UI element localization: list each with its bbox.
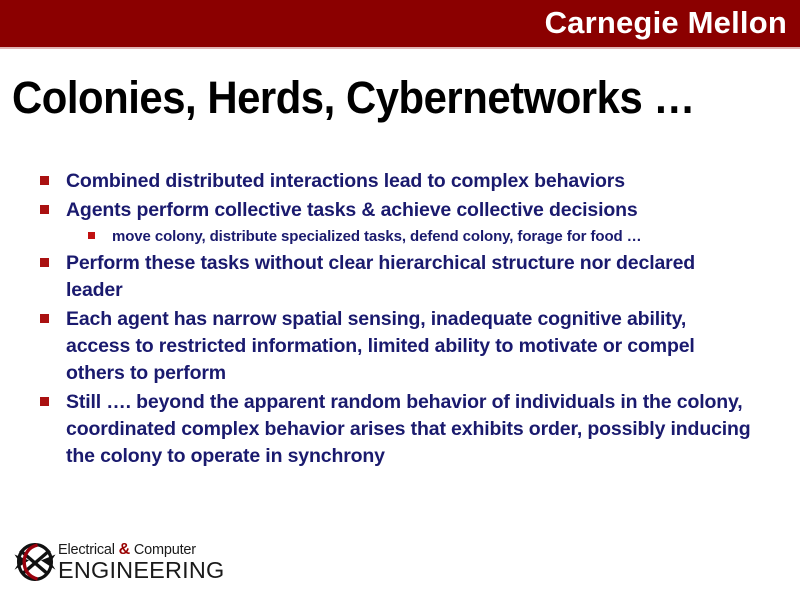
- ece-logo: Electrical & Computer ENGINEERING: [13, 538, 228, 586]
- bullet-square-icon: [40, 314, 49, 323]
- bullet-text: Still …. beyond the apparent random beha…: [66, 389, 754, 470]
- list-item: Each agent has narrow spatial sensing, i…: [34, 306, 754, 387]
- ece-wordmark-line1: Electrical & Computer: [58, 542, 228, 558]
- list-item-sub: move colony, distribute specialized task…: [34, 226, 754, 247]
- ece-wordmark: Electrical & Computer ENGINEERING: [58, 542, 228, 583]
- bullet-text: move colony, distribute specialized task…: [112, 226, 754, 247]
- bullet-text: Each agent has narrow spatial sensing, i…: [66, 306, 754, 387]
- ece-wordmark-electrical: Electrical: [58, 542, 119, 558]
- bullet-text: Combined distributed interactions lead t…: [66, 168, 754, 195]
- slide-canvas: Carnegie Mellon Colonies, Herds, Cyberne…: [0, 0, 800, 599]
- ece-wordmark-computer: Computer: [130, 542, 196, 558]
- ece-wordmark-line2: ENGINEERING: [58, 558, 231, 583]
- header-underline-divider: [0, 47, 800, 49]
- bullet-square-icon: [40, 176, 49, 185]
- ece-wordmark-ampersand: &: [119, 541, 130, 558]
- bullet-text: Perform these tasks without clear hierar…: [66, 250, 754, 304]
- ece-globe-mark-icon: [13, 540, 57, 584]
- list-item: Agents perform collective tasks & achiev…: [34, 197, 754, 224]
- header-title: Carnegie Mellon: [545, 5, 787, 41]
- list-item: Combined distributed interactions lead t…: [34, 168, 754, 195]
- bullet-square-icon: [40, 205, 49, 214]
- list-item: Perform these tasks without clear hierar…: [34, 250, 754, 304]
- bullet-square-icon: [88, 232, 95, 239]
- bullet-square-icon: [40, 397, 49, 406]
- bullet-text: Agents perform collective tasks & achiev…: [66, 197, 754, 224]
- bullet-square-icon: [40, 258, 49, 267]
- bullet-list: Combined distributed interactions lead t…: [34, 168, 754, 472]
- page-title: Colonies, Herds, Cybernetworks …: [12, 72, 695, 124]
- list-item: Still …. beyond the apparent random beha…: [34, 389, 754, 470]
